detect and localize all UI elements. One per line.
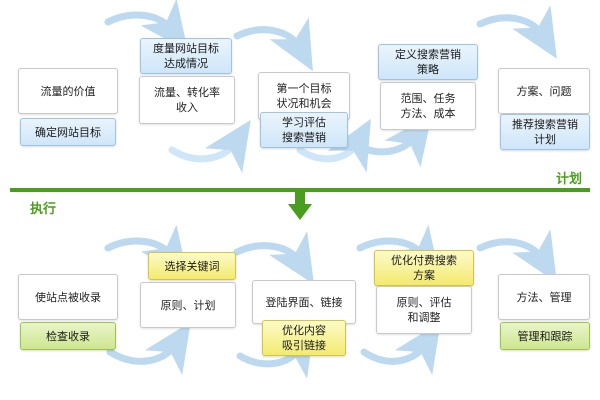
landing-page-links-box[interactable]: 登陆界面、链接 [252,280,356,324]
plan-and-issues-box[interactable]: 方案、问题 [498,68,590,114]
traffic-value-box[interactable]: 流量的价值 [18,68,118,114]
optimize-paid-search-plan-chip[interactable]: 优化付费搜索 方案 [374,250,474,286]
principle-plan-box[interactable]: 原则、计划 [140,282,236,328]
learn-evaluate-search-marketing-chip[interactable]: 学习评估 搜索营销 [260,112,348,148]
define-strategy-line-1: 定义搜索营销 [395,47,461,62]
traffic-conversion-revenue-line-1: 流量、转化率 [154,85,220,100]
optimize-content-line-2: 吸引链接 [282,338,326,353]
define-site-goal-line-1: 确定网站目标 [35,125,101,140]
phase-divider [10,188,590,192]
check-indexing-line-1: 检查收录 [46,329,90,344]
recommend-plan-line-1: 推荐搜索营销 [512,117,578,132]
select-keywords-line-1: 选择关键词 [165,259,220,274]
traffic-conversion-revenue-line-2: 收入 [176,100,198,115]
principle-evaluate-line-2: 和调整 [408,310,441,325]
make-site-indexed-line-1: 使站点被收录 [35,290,101,305]
scope-method-cost-line-1: 范围、任务 [401,91,456,106]
execute-label: 执行 [30,198,56,217]
make-site-indexed-box[interactable]: 使站点被收录 [18,274,118,320]
optimize-paid-search-line-1: 优化付费搜索 [391,253,457,268]
diagram-canvas: 计划 执行 流量的价值 确定网站目标 度量网站目标 达成情况 流量、转化率 收入… [0,0,600,400]
principle-evaluate-adjust-box[interactable]: 原则、评估 和调整 [376,286,472,334]
measure-goal-completion-chip[interactable]: 度量网站目标 达成情况 [140,38,232,74]
measure-goal-completion-line-2: 达成情况 [164,56,208,71]
optimize-content-attract-links-chip[interactable]: 优化内容 吸引链接 [262,320,346,356]
learn-evaluate-line-1: 学习评估 [282,115,326,130]
traffic-value-line-1: 流量的价值 [41,84,96,99]
scope-method-cost-box[interactable]: 范围、任务 方法、成本 [380,82,476,130]
optimize-content-line-1: 优化内容 [282,323,326,338]
define-search-marketing-strategy-chip[interactable]: 定义搜索营销 策略 [378,44,478,80]
first-goal-status-line-1: 第一个目标 [277,81,332,96]
principle-evaluate-line-1: 原则、评估 [397,295,452,310]
traffic-conversion-revenue-box[interactable]: 流量、转化率 收入 [139,76,235,124]
principle-plan-line-1: 原则、计划 [161,298,216,313]
recommend-search-marketing-plan-chip[interactable]: 推荐搜索营销 计划 [500,114,590,150]
measure-goal-completion-line-1: 度量网站目标 [153,41,219,56]
landing-page-links-line-1: 登陆界面、链接 [266,295,343,310]
manage-and-track-chip[interactable]: 管理和跟踪 [500,322,590,350]
recommend-plan-line-2: 计划 [534,132,556,147]
learn-evaluate-line-2: 搜索营销 [282,130,326,145]
check-indexing-chip[interactable]: 检查收录 [20,322,116,350]
optimize-paid-search-line-2: 方案 [413,268,435,283]
scope-method-cost-line-2: 方法、成本 [401,106,456,121]
define-site-goal-chip[interactable]: 确定网站目标 [20,118,116,146]
first-goal-status-line-2: 状况和机会 [277,96,332,111]
manage-and-track-line-1: 管理和跟踪 [518,329,573,344]
define-strategy-line-2: 策略 [417,62,439,77]
plan-and-issues-line-1: 方案、问题 [517,84,572,99]
select-keywords-chip[interactable]: 选择关键词 [148,252,236,280]
plan-label: 计划 [556,168,582,187]
method-management-box[interactable]: 方法、管理 [498,274,590,320]
method-management-line-1: 方法、管理 [517,290,572,305]
